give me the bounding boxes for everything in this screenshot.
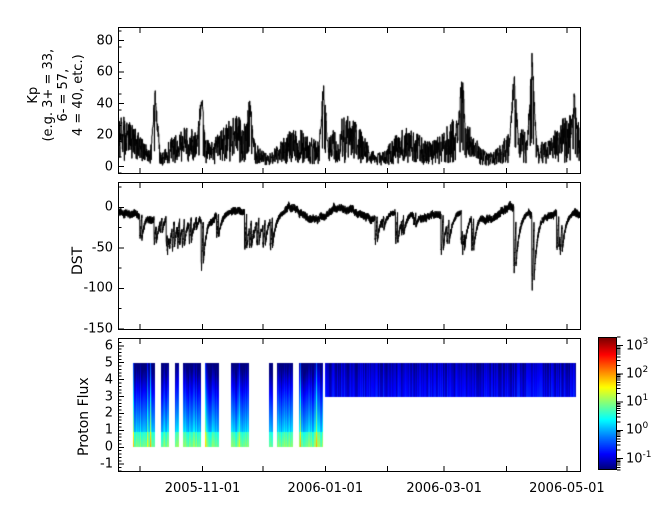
- kp-ytick-0: 0: [105, 160, 113, 173]
- kp-axis-label-line-3: 4 = 40, etc.): [71, 26, 86, 166]
- colorbar-tick-4: 103: [626, 339, 648, 352]
- pf-ytick-6: 6: [105, 339, 113, 352]
- xtick-label-2: 2006-03-01: [406, 482, 482, 495]
- dst-ytick--50: -50: [92, 241, 113, 254]
- colorbar-tick-2: 101: [626, 396, 648, 409]
- xtick-label-1: 2006-01-01: [288, 482, 364, 495]
- kp-line-canvas: [119, 28, 580, 173]
- pf-ytick-5: 5: [105, 356, 113, 369]
- dst-ytick--150: -150: [83, 323, 113, 336]
- kp-ytick-60: 60: [96, 66, 113, 79]
- dst-line-canvas: [119, 183, 580, 329]
- proton-flux-plot-panel: [118, 338, 581, 472]
- kp-axis-label-line-0: Kp: [26, 26, 41, 166]
- kp-axis-label-line-1: (e.g. 3+ = 33,: [41, 26, 56, 166]
- figure-root: 020406080Kp(e.g. 3+ = 33,6- = 57,4 = 40,…: [0, 0, 665, 523]
- kp-plot-panel: [118, 27, 581, 174]
- dst-ytick--100: -100: [83, 282, 113, 295]
- dst-plot-panel: [118, 182, 581, 330]
- pf-ytick-1: 1: [105, 424, 113, 437]
- proton-flux-axis-label: Proton Flux: [76, 377, 92, 456]
- colorbar-tick-0: 10-1: [626, 452, 652, 465]
- kp-ytick-20: 20: [96, 129, 113, 142]
- dst-ytick-0: 0: [105, 201, 113, 214]
- pf-ytick-0: 0: [105, 441, 113, 454]
- colorbar-gradient-canvas: [599, 338, 616, 469]
- kp-axis-label-line-2: 6- = 57,: [56, 26, 71, 166]
- kp-axis-label: Kp(e.g. 3+ = 33,6- = 57,4 = 40, etc.): [26, 26, 86, 166]
- colorbar-tick-3: 102: [626, 367, 648, 380]
- xtick-label-0: 2005-11-01: [165, 482, 241, 495]
- pf-ytick--1: -1: [100, 458, 113, 471]
- xtick-label-3: 2006-05-01: [529, 482, 605, 495]
- dst-axis-label: DST: [70, 247, 86, 275]
- pf-ytick-4: 4: [105, 373, 113, 386]
- proton-flux-heatmap-canvas: [119, 339, 580, 471]
- proton-flux-colorbar: [598, 337, 617, 470]
- pf-ytick-2: 2: [105, 407, 113, 420]
- kp-ytick-40: 40: [96, 97, 113, 110]
- pf-ytick-3: 3: [105, 390, 113, 403]
- kp-ytick-80: 80: [96, 34, 113, 47]
- colorbar-tick-1: 100: [626, 424, 648, 437]
